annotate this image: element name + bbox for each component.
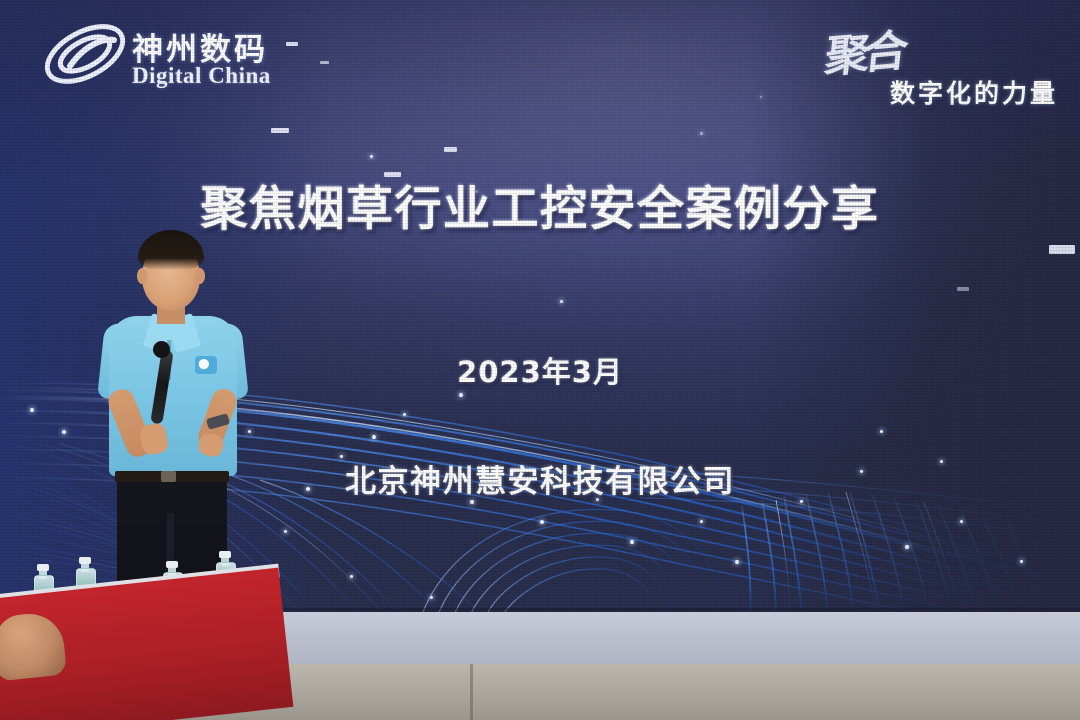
swoosh-spiral-icon [40, 20, 130, 88]
event-tagline: 数字化的力量 [890, 74, 1058, 110]
belt-buckle [161, 471, 176, 482]
conference-photo-scene: 神州数码 Digital China 聚合 数字化的力量 聚焦烟草行业工控安全案… [0, 0, 1080, 720]
digital-china-en-name: Digital China [132, 63, 271, 89]
presenter-hair [138, 230, 204, 270]
floor-seam [470, 664, 473, 720]
event-brand-mark: 聚合 数字化的力量 [808, 18, 1058, 113]
presenter-right-ear [195, 268, 205, 284]
chest-logo-badge [195, 356, 217, 374]
presenter-left-ear [137, 268, 147, 284]
digital-china-logo: 神州数码 Digital China [40, 18, 340, 96]
